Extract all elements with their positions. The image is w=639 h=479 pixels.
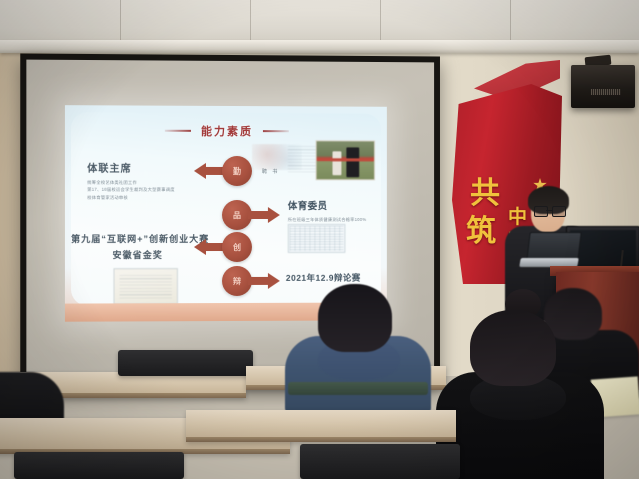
arrow-head-right xyxy=(268,207,280,223)
award-certificate xyxy=(113,268,177,304)
screen-roller-housing xyxy=(0,40,639,53)
arrow-shaft xyxy=(248,211,270,219)
row-2-heading: 体育委员 xyxy=(288,198,367,212)
row-1-arrow: 勤 xyxy=(194,156,280,186)
title-rule-right xyxy=(263,130,289,132)
row-1-subline-3: 校体育管家活动审核 xyxy=(87,194,174,201)
chair-back-strip xyxy=(288,382,428,395)
wall-speaker-icon xyxy=(571,65,635,108)
laptop-lid xyxy=(526,232,582,261)
desk-front-center xyxy=(186,410,456,442)
class-score-table xyxy=(288,224,346,253)
slide-title-row: 能力素质 xyxy=(65,121,387,140)
row-3-arrow: 创 xyxy=(194,232,280,262)
lens-left xyxy=(534,206,548,217)
student-ponytail-head xyxy=(470,310,556,386)
lens-right xyxy=(552,206,566,217)
row-4-heading: 2021年12.9辩论赛 xyxy=(286,272,361,284)
row-4-text: 2021年12.9辩论赛 xyxy=(286,272,361,284)
row-1-subline-1: 统筹全校艺体类社团工作 xyxy=(87,179,174,187)
speaker-grille xyxy=(591,89,621,95)
chair-front-center xyxy=(300,444,460,479)
title-rule-left xyxy=(165,130,191,132)
row-1-heading: 体联主席 xyxy=(87,160,174,175)
row-2-arrow: 品 xyxy=(194,200,280,230)
row-2-text: 体育委员 所在班级三年体质健康测试合格率100% xyxy=(288,198,367,223)
row-3-text: 第九届“互联网+”创新创业大赛 安徽省金奖 xyxy=(71,232,204,261)
row-2-subline-1: 所在班级三年体质健康测试合格率100% xyxy=(288,216,367,223)
row-3-heading-line-2: 安徽省金奖 xyxy=(71,248,204,261)
banner-char-2: 筑 xyxy=(466,206,496,250)
student-blue-hoodie-head xyxy=(318,284,392,352)
sports-field-photo xyxy=(316,140,375,180)
chair-front-left xyxy=(14,452,184,479)
glasses-icon xyxy=(534,206,564,215)
chair-back xyxy=(118,350,253,376)
arrow-shaft xyxy=(248,277,270,285)
certificate-text-lines xyxy=(119,275,171,298)
row-3-badge: 创 xyxy=(222,232,252,262)
row-1-badge: 勤 xyxy=(222,156,252,186)
slide-title: 能力素质 xyxy=(201,123,253,139)
row-1-text: 体联主席 统筹全校艺体类社团工作 第17、18届校运会学生裁判及大型赛事调度 校… xyxy=(87,160,174,201)
table-grid xyxy=(290,226,344,251)
row-4-arrow: 辩 xyxy=(194,266,280,296)
banner-char-3: 中 xyxy=(508,202,527,229)
arrow-head-right xyxy=(268,273,280,289)
row-3-heading-line-1: 第九届“互联网+”创新创业大赛 xyxy=(71,232,204,245)
row-1-subline-2: 第17、18届校运会学生裁判及大型赛事调度 xyxy=(87,186,174,193)
classroom-presentation-photo: 能力素质 聘 书 体联主席 统筹全校艺体类社团工作 第17、18届校 xyxy=(0,0,639,479)
